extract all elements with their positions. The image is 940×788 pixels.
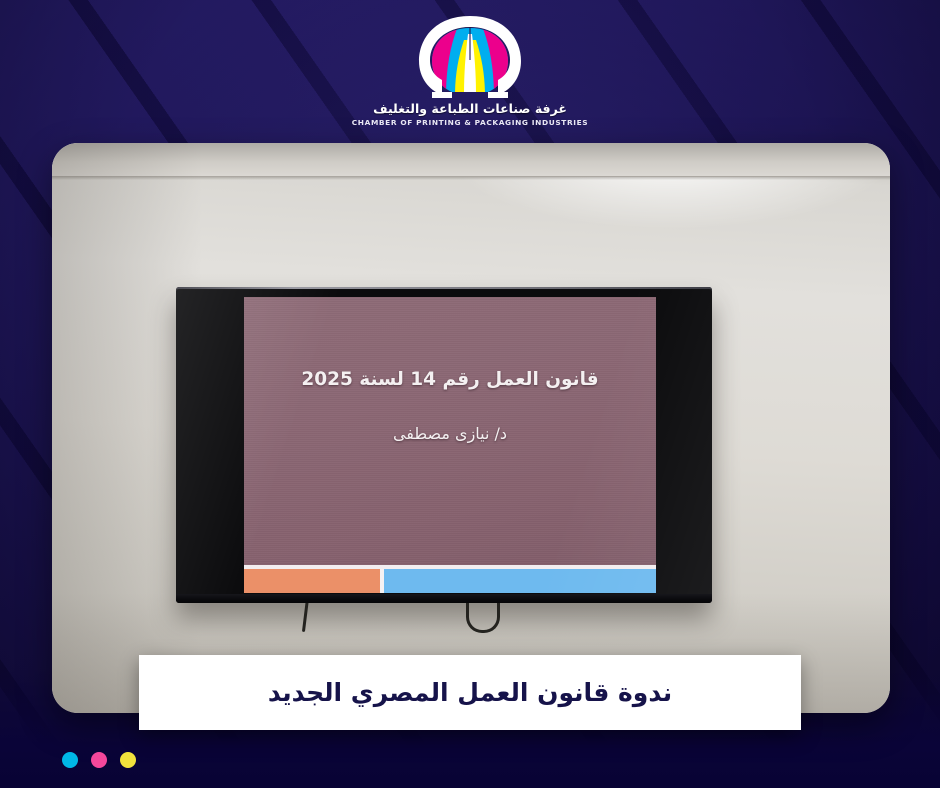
slide-footer-bar-orange [244, 569, 384, 593]
chamber-omega-logo-icon [410, 14, 530, 100]
slide-footer-bar-blue [384, 569, 656, 593]
slide-title: قانون العمل رقم 14 لسنة 2025 [244, 369, 656, 390]
event-photo: قانون العمل رقم 14 لسنة 2025 د/ نيازى مص… [52, 143, 890, 713]
yellow-dot [120, 752, 136, 768]
slide-texture [244, 297, 656, 593]
tv-bottom-edge [176, 594, 712, 603]
chamber-logo: غرفة صناعات الطباعة والتغليف CHAMBER OF … [0, 14, 940, 136]
tv-top-edge [176, 287, 712, 289]
cyan-dot [62, 752, 78, 768]
magenta-dot [91, 752, 107, 768]
slide-footer-bar [244, 565, 656, 593]
logo-arabic-name: غرفة صناعات الطباعة والتغليف [373, 101, 567, 116]
cmyk-dot-group [62, 752, 136, 768]
presentation-slide: قانون العمل رقم 14 لسنة 2025 د/ نيازى مص… [244, 297, 656, 593]
caption-plate: ندوة قانون العمل المصري الجديد [139, 655, 801, 730]
event-poster: غرفة صناعات الطباعة والتغليف CHAMBER OF … [0, 0, 940, 788]
wall-mounted-television: قانون العمل رقم 14 لسنة 2025 د/ نيازى مص… [176, 287, 712, 603]
caption-title: ندوة قانون العمل المصري الجديد [268, 680, 672, 705]
logo-english-name: CHAMBER OF PRINTING & PACKAGING INDUSTRI… [352, 118, 588, 127]
slide-subtitle-speaker: د/ نيازى مصطفى [244, 424, 656, 443]
